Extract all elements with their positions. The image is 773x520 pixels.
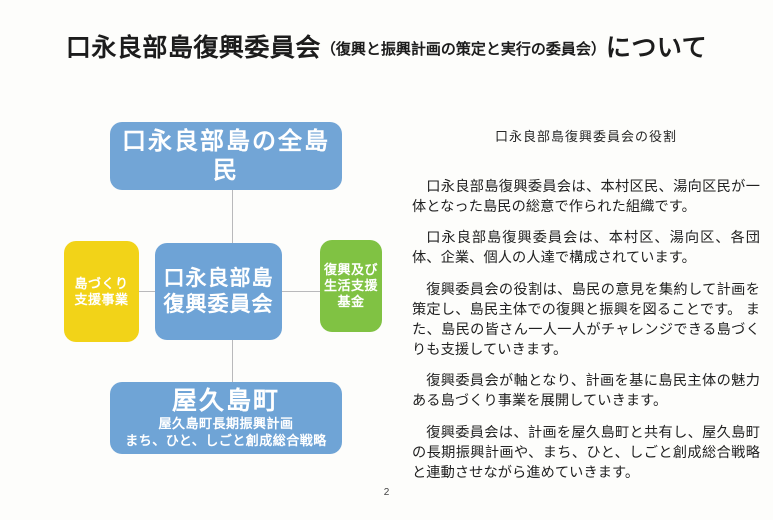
diagram-node-island-building-support: 島づくり 支援事業 <box>64 241 139 342</box>
page-number: 2 <box>0 487 773 498</box>
diagram-node-committee-line1: 口永良部島 <box>164 266 274 292</box>
diagram-node-recovery-fund-line3: 基金 <box>337 294 364 310</box>
connector-islanders-to-committee <box>232 188 233 246</box>
page-title-tail: について <box>606 34 707 62</box>
body-paragraph: 口永良部島復興委員会は、本村区民、湯向区民が一体となった島民の総意で作られた組織… <box>412 177 760 217</box>
connector-committee-to-town <box>232 338 233 386</box>
diagram-node-recovery-fund-line2: 生活支援 <box>324 278 378 294</box>
org-diagram: 口永良部島の全島民 島づくり 支援事業 口永良部島 復興委員会 復興及び 生活支… <box>0 0 410 520</box>
document-page: 口永良部島復興委員会（復興と振興計画の策定と実行の委員会）について 口永良部島の… <box>0 0 773 520</box>
connector-committee-to-fund <box>281 291 322 292</box>
diagram-node-island-building-support-line2: 支援事業 <box>74 292 128 308</box>
diagram-node-island-building-support-line1: 島づくり <box>74 276 128 292</box>
connector-committee-to-support <box>137 291 157 292</box>
diagram-node-yakushima-town-title: 屋久島町 <box>172 388 280 416</box>
diagram-node-all-islanders: 口永良部島の全島民 <box>110 122 342 190</box>
diagram-node-yakushima-town: 屋久島町 屋久島町長期振興計画 まち、ひと、しごと創成総合戦略 <box>110 382 342 454</box>
body-paragraph: 復興委員会が軸となり、計画を基に島民主体の魅力ある島づくり事業を展開していきます… <box>412 371 760 411</box>
body-paragraph: 口永良部島復興委員会は、本村区、湯向区、各団体、企業、個人の人達で構成されていま… <box>412 228 760 268</box>
diagram-node-yakushima-town-sub2: まち、ひと、しごと創成総合戦略 <box>125 433 327 450</box>
text-column-heading: 口永良部島復興委員会の役割 <box>412 126 760 145</box>
diagram-node-all-islanders-label: 口永良部島の全島民 <box>110 127 342 186</box>
body-paragraph: 復興委員会の役割は、島民の意見を集約して計画を策定し、島民主体での復興と振興を図… <box>412 280 760 361</box>
diagram-node-recovery-fund: 復興及び 生活支援 基金 <box>320 240 382 332</box>
diagram-node-yakushima-town-sub1: 屋久島町長期振興計画 <box>158 416 293 433</box>
body-paragraph: 復興委員会は、計画を屋久島町と共有し、屋久島町の長期振興計画や、まち、ひと、しご… <box>412 423 760 483</box>
text-column: 口永良部島復興委員会の役割 口永良部島復興委員会は、本村区民、湯向区民が一体とな… <box>412 126 760 483</box>
diagram-node-recovery-fund-line1: 復興及び <box>324 262 378 278</box>
diagram-node-committee: 口永良部島 復興委員会 <box>155 243 282 340</box>
diagram-node-committee-line2: 復興委員会 <box>164 292 274 318</box>
